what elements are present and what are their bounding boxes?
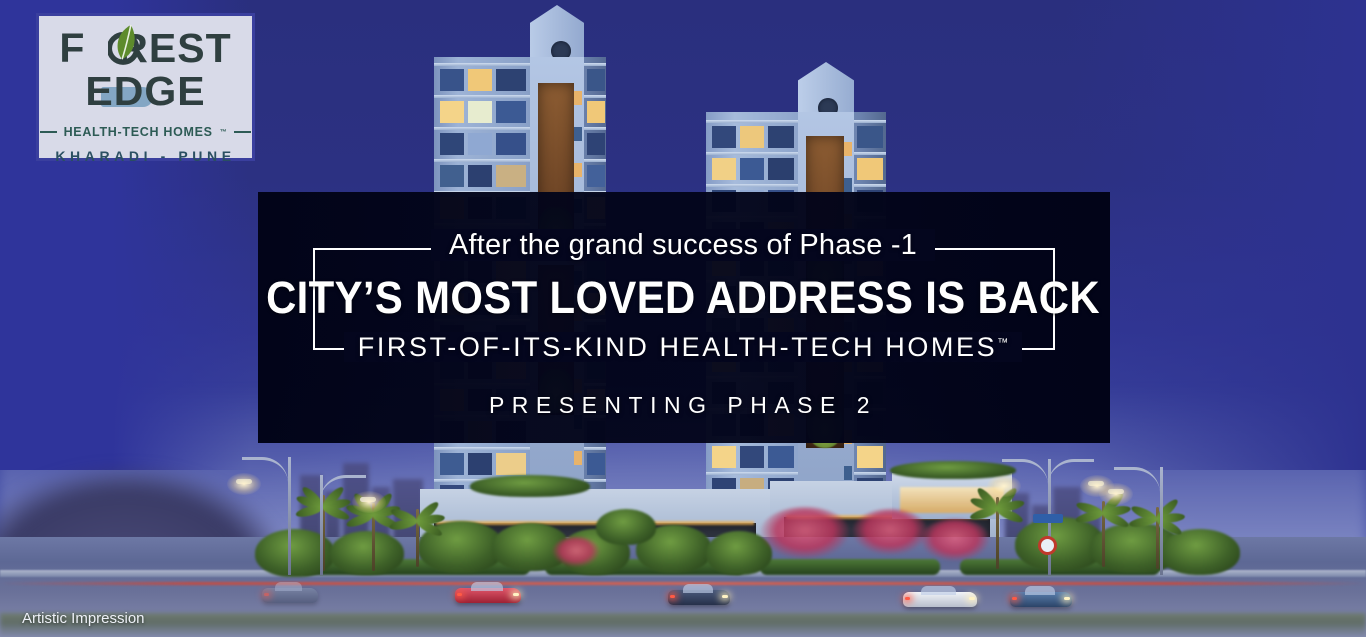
logo-letter-f: F bbox=[59, 25, 85, 71]
hero-eyebrow-text: After the grand success of Phase -1 bbox=[431, 229, 935, 261]
bougainvillea bbox=[552, 537, 600, 567]
street-light bbox=[320, 475, 370, 575]
trademark-symbol: ™ bbox=[997, 337, 1008, 349]
hero-subline-text: FIRST-OF-ITS-KIND HEALTH-TECH HOMES™ bbox=[344, 332, 1023, 362]
hero-subline-label: FIRST-OF-ITS-KIND HEALTH-TECH HOMES bbox=[358, 332, 998, 362]
street-sign-board bbox=[1033, 514, 1063, 523]
logo-location: KHARADI - PUNE bbox=[55, 148, 235, 164]
logo-edge-label: EDGE bbox=[85, 68, 205, 114]
palm-tree bbox=[992, 497, 1002, 569]
palm-tree bbox=[1098, 501, 1108, 567]
forest-edge-logo[interactable]: FOREST EDGE HEALTH-TECH HOMES™ KHARADI -… bbox=[36, 13, 255, 161]
real-estate-banner: After the grand success of Phase -1 CITY… bbox=[0, 0, 1366, 637]
bougainvillea bbox=[920, 519, 990, 561]
logo-tagline: HEALTH-TECH HOMES™ bbox=[40, 125, 252, 139]
bougainvillea bbox=[760, 507, 850, 559]
car bbox=[903, 592, 977, 607]
tagline-label: HEALTH-TECH HOMES bbox=[64, 125, 213, 139]
logo-wordmark-edge: EDGE bbox=[85, 71, 205, 112]
hero-eyebrow: After the grand success of Phase -1 bbox=[0, 229, 1366, 262]
logo-wordmark-forest: FOREST bbox=[59, 28, 231, 69]
car bbox=[1010, 592, 1072, 607]
car bbox=[262, 588, 318, 603]
leaf-icon bbox=[108, 23, 142, 68]
hero-footline: PRESENTING PHASE 2 bbox=[0, 392, 1366, 419]
road-red-marking bbox=[0, 582, 1366, 585]
hero-subline: FIRST-OF-ITS-KIND HEALTH-TECH HOMES™ bbox=[0, 332, 1366, 363]
street-light bbox=[1160, 467, 1210, 575]
bougainvillea bbox=[852, 509, 928, 555]
car bbox=[455, 588, 521, 603]
artistic-impression-disclaimer: Artistic Impression bbox=[22, 610, 145, 627]
podium-roof-garden bbox=[470, 475, 590, 497]
speed-limit-sign-icon bbox=[1038, 536, 1057, 555]
palm-tree bbox=[412, 509, 422, 567]
tagline-dash-left bbox=[40, 131, 57, 133]
car bbox=[668, 590, 730, 605]
tagline-trademark: ™ bbox=[220, 129, 228, 136]
hedge-row bbox=[760, 559, 940, 575]
median-strip bbox=[0, 613, 1366, 637]
tagline-dash-right bbox=[234, 131, 251, 133]
tree-canopy bbox=[596, 509, 656, 545]
hero-headline: CITY’S MOST LOVED ADDRESS IS BACK bbox=[48, 272, 1318, 324]
